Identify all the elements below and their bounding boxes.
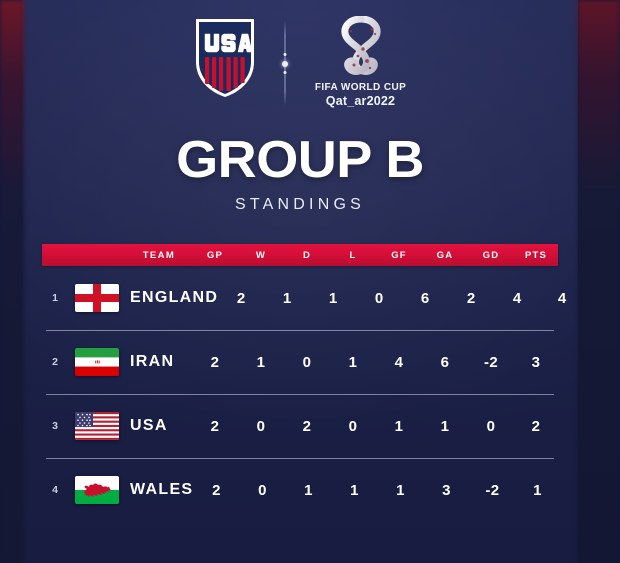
column-header-gd: GD (468, 250, 514, 261)
row-l: 1 (331, 482, 377, 499)
row-gd: -2 (469, 482, 515, 499)
row-d: 1 (285, 482, 331, 499)
right-edge-band (578, 0, 620, 563)
title-block: GROUP B STANDINGS (22, 134, 578, 214)
row-team-name: IRAN (126, 353, 192, 371)
row-gd: -2 (468, 354, 514, 371)
usa-soccer-crest-icon (192, 16, 258, 100)
usa-flag-icon (75, 412, 119, 440)
row-flag (68, 284, 126, 312)
row-gf: 1 (376, 418, 422, 435)
column-header-ga: GA (422, 250, 468, 261)
row-gp: 2 (218, 290, 264, 307)
row-gf: 4 (376, 354, 422, 371)
row-w: 1 (264, 290, 310, 307)
row-pts: 2 (514, 418, 558, 435)
row-w: 1 (238, 354, 284, 371)
row-l: 1 (330, 354, 376, 371)
table-row[interactable]: 3 (42, 394, 558, 458)
column-header-d: D (284, 250, 330, 261)
iran-flag-icon (75, 348, 119, 376)
column-header-l: L (330, 250, 376, 261)
table-row[interactable]: 4 WALES 2 0 1 1 1 (42, 458, 558, 522)
row-gd: 0 (468, 418, 514, 435)
column-header-gf: GF (376, 250, 422, 261)
row-gp: 2 (193, 482, 239, 499)
row-rank: 1 (42, 292, 68, 304)
fifa-logo-line2: Qat_ar2022 (326, 94, 395, 108)
row-l: 0 (356, 290, 402, 307)
standings-table: TEAM GP W D L GF GA GD PTS 1 (42, 244, 558, 522)
header-logo-row: FIFA WORLD CUP Qat_ar2022 (22, 0, 578, 108)
row-pts: 4 (540, 290, 578, 307)
page-subtitle: STANDINGS (22, 196, 578, 214)
row-gp: 2 (192, 418, 238, 435)
table-header-row: TEAM GP W D L GF GA GD PTS (42, 244, 558, 266)
column-header-gp: GP (192, 250, 238, 261)
row-ga: 6 (422, 354, 468, 371)
row-flag (68, 412, 126, 440)
row-pts: 1 (515, 482, 559, 499)
fifa-logo-line1: FIFA WORLD CUP (315, 82, 406, 93)
page-title: GROUP B (22, 134, 578, 186)
vertical-dot-divider-icon (284, 20, 287, 106)
column-header-w: W (238, 250, 284, 261)
row-d: 0 (284, 354, 330, 371)
row-ga: 2 (448, 290, 494, 307)
row-team-name: WALES (126, 481, 193, 499)
row-pts: 3 (514, 354, 558, 371)
row-flag (68, 348, 126, 376)
row-ga: 3 (423, 482, 469, 499)
fifa-world-cup-trophy-loop-icon (332, 16, 390, 78)
row-flag (68, 476, 126, 504)
row-gp: 2 (192, 354, 238, 371)
row-rank: 4 (42, 484, 68, 496)
row-l: 0 (330, 418, 376, 435)
fifa-world-cup-logo: FIFA WORLD CUP Qat_ar2022 (313, 16, 409, 108)
row-gf: 6 (402, 290, 448, 307)
row-team-name: ENGLAND (126, 289, 218, 307)
table-row[interactable]: 2 IRAN 2 1 (42, 330, 558, 394)
row-w: 0 (238, 418, 284, 435)
column-header-pts: PTS (514, 250, 558, 261)
content-stage: FIFA WORLD CUP Qat_ar2022 GROUP B STANDI… (22, 0, 578, 563)
england-flag-icon (75, 284, 119, 312)
row-gf: 1 (377, 482, 423, 499)
left-edge-band (0, 0, 24, 563)
column-header-team: TEAM (126, 250, 192, 261)
row-d: 2 (284, 418, 330, 435)
row-w: 0 (239, 482, 285, 499)
row-gd: 4 (494, 290, 540, 307)
group-standings-graphic: FIFA WORLD CUP Qat_ar2022 GROUP B STANDI… (0, 0, 620, 563)
table-row[interactable]: 1 ENGLAND 2 1 1 0 6 2 4 (42, 266, 558, 330)
row-ga: 1 (422, 418, 468, 435)
wales-flag-icon (75, 476, 119, 504)
row-rank: 3 (42, 420, 68, 432)
row-team-name: USA (126, 417, 192, 435)
row-rank: 2 (42, 356, 68, 368)
row-d: 1 (310, 290, 356, 307)
